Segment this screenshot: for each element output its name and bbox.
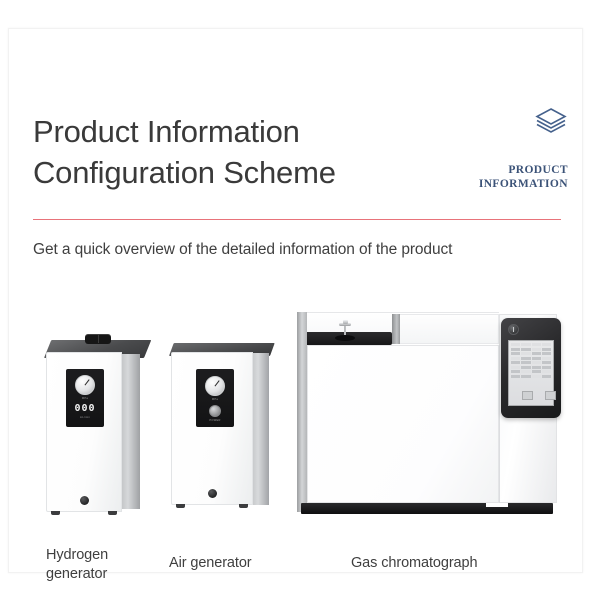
- lcd-cell: [532, 370, 541, 373]
- air-knob-label: POWER: [196, 419, 234, 422]
- gc-body-seam: [499, 345, 500, 503]
- lcd-cell: [532, 366, 541, 369]
- lcd-cell: [511, 370, 520, 373]
- lcd-cell: [521, 343, 530, 346]
- brand-text-line-2: INFORMATION: [448, 177, 568, 191]
- gc-deck-riser: [392, 314, 400, 344]
- lcd-cell: [521, 357, 530, 360]
- lcd-cell: [532, 361, 541, 364]
- gc-lcd-buttons[interactable]: [516, 391, 562, 400]
- brand-text: PRODUCT INFORMATION: [448, 163, 568, 191]
- gc-injector-port: [335, 335, 355, 341]
- air-pressure-gauge-icon: [205, 376, 225, 396]
- lcd-row: [511, 370, 551, 373]
- layers-stack-icon: [534, 107, 568, 135]
- lcd-cell: [521, 352, 530, 355]
- product-image-hydrogen-generator: MPa 000 mL/min: [44, 324, 159, 524]
- lcd-cell: [532, 348, 541, 351]
- lcd-row: [511, 357, 551, 360]
- lcd-cell: [542, 370, 551, 373]
- lcd-row: [511, 361, 551, 364]
- lcd-cell: [521, 370, 530, 373]
- caption-hydrogen-generator: Hydrogen generator: [46, 546, 146, 584]
- lcd-cell: [511, 352, 520, 355]
- hydrogen-readout-label: mL/min: [66, 416, 104, 419]
- brand-text-line-1: PRODUCT: [448, 163, 568, 177]
- lcd-cell: [511, 343, 520, 346]
- hydrogen-gauge-label: MPa: [66, 397, 104, 400]
- lcd-cell: [532, 357, 541, 360]
- lcd-cell: [542, 375, 551, 378]
- gc-lcd-screen: [508, 340, 554, 406]
- air-power-knob: [209, 405, 221, 417]
- lcd-cell: [542, 343, 551, 346]
- gc-injector-fitting-icon: [340, 321, 350, 335]
- lcd-cell: [542, 352, 551, 355]
- lcd-cell: [532, 352, 541, 355]
- hydrogen-digital-readout: 000: [66, 403, 104, 414]
- lcd-cell: [542, 357, 551, 360]
- hydrogen-foot-right: [108, 511, 117, 515]
- page-title-line-1: Product Information: [33, 111, 453, 152]
- air-foot-right: [239, 504, 248, 508]
- hydrogen-body: MPa 000 mL/min: [46, 352, 122, 512]
- air-foot-left: [176, 504, 185, 508]
- hydrogen-vent-cap: [85, 334, 111, 344]
- gc-injector-cap: [343, 320, 348, 324]
- caption-air-generator: Air generator: [169, 554, 289, 573]
- lcd-cell: [511, 366, 520, 369]
- lcd-cell: [511, 375, 520, 378]
- product-image-gas-chromatograph: [297, 304, 562, 529]
- air-control-panel: MPa POWER: [196, 369, 234, 427]
- lcd-cell: [511, 357, 520, 360]
- lcd-cell: [521, 361, 530, 364]
- lcd-row: [511, 352, 551, 355]
- page-root: Product Information Configuration Scheme…: [0, 0, 600, 600]
- air-body: MPa POWER: [171, 352, 253, 505]
- lcd-cell: [542, 361, 551, 364]
- gc-lcd-button[interactable]: [522, 391, 533, 400]
- gc-lcd-button[interactable]: [545, 391, 556, 400]
- brand-block: PRODUCT INFORMATION: [448, 107, 568, 191]
- air-gauge-label: MPa: [196, 398, 234, 401]
- lcd-row: [511, 366, 551, 369]
- hydrogen-pressure-gauge-icon: [75, 375, 95, 395]
- gc-upper-right-panel: [400, 314, 499, 344]
- lcd-cell: [511, 361, 520, 364]
- page-title: Product Information Configuration Scheme: [33, 111, 453, 193]
- lcd-cell: [521, 375, 530, 378]
- page-title-line-2: Configuration Scheme: [33, 152, 453, 193]
- caption-gas-chromatograph: Gas chromatograph: [351, 554, 551, 573]
- gc-power-button-icon[interactable]: [508, 324, 519, 335]
- hydrogen-foot-left: [51, 511, 60, 515]
- product-gallery: MPa 000 mL/min: [9, 279, 584, 574]
- lcd-row: [511, 375, 551, 378]
- lcd-cell: [511, 348, 520, 351]
- gc-base-notch: [486, 503, 508, 507]
- lcd-row: [511, 343, 551, 346]
- hydrogen-outlet-knob: [80, 496, 89, 505]
- product-image-air-generator: MPa POWER: [169, 337, 279, 527]
- lcd-cell: [532, 343, 541, 346]
- lcd-cell: [532, 375, 541, 378]
- lcd-cell: [521, 366, 530, 369]
- lcd-row: [511, 348, 551, 351]
- gc-control-panel: [501, 318, 561, 418]
- page-subtitle: Get a quick overview of the detailed inf…: [33, 241, 452, 259]
- hydrogen-control-panel: MPa 000 mL/min: [66, 369, 104, 427]
- air-outlet-knob: [208, 489, 217, 498]
- gc-injector-tray: [307, 332, 392, 345]
- lcd-cell: [521, 348, 530, 351]
- product-info-card: Product Information Configuration Scheme…: [8, 28, 583, 573]
- lcd-cell: [542, 348, 551, 351]
- lcd-cell: [542, 366, 551, 369]
- header-divider: [33, 219, 561, 220]
- caption-hydrogen-line-1: Hydrogen: [46, 546, 146, 565]
- gc-base-plinth: [301, 503, 553, 514]
- gc-oven-door: [307, 345, 499, 503]
- caption-hydrogen-line-2: generator: [46, 565, 146, 584]
- gc-left-column: [297, 312, 307, 512]
